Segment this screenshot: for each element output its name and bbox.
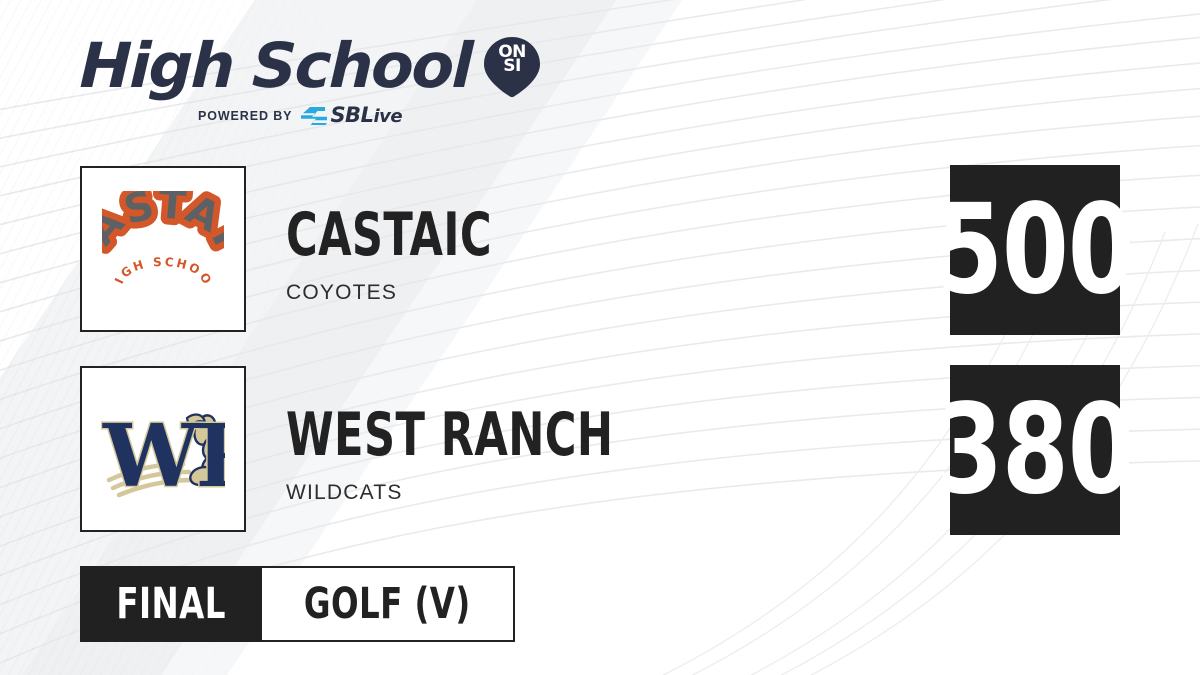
sblive-italic-part: ive: [373, 106, 402, 127]
brand-title: High School: [79, 35, 472, 97]
brand-logo-row: High School ON SI: [80, 34, 543, 98]
svg-text:WR: WR: [102, 406, 225, 504]
brand-logo: High School ON SI POWERED BY SBLive: [80, 34, 543, 126]
pin-label: ON SI: [481, 45, 543, 73]
score-value-west-ranch: 380: [936, 388, 1134, 512]
scoreboard-graphic: High School ON SI POWERED BY SBLive: [0, 0, 1200, 675]
team-logo-box-castaic: CASTAIC CASTAIC HIGH SCHOOL: [80, 166, 246, 332]
team-name-west-ranch: WEST RANCH: [286, 405, 613, 465]
team-name-castaic: CASTAIC: [286, 205, 492, 265]
team-mascot-wildcats: WILDCATS: [286, 481, 403, 505]
sblive-s-mark-icon: [301, 106, 327, 126]
sblive-bold-part: SBL: [330, 103, 373, 127]
powered-by-row: POWERED BY SBLive: [198, 105, 543, 126]
team-logo-box-west-ranch: WR: [80, 366, 246, 532]
score-value-castaic: 500: [936, 188, 1134, 312]
pin-label-si: SI: [481, 59, 543, 73]
team-mascot-coyotes: COYOTES: [286, 281, 397, 305]
on-si-pin-icon: ON SI: [481, 36, 543, 98]
score-box-west-ranch: 380: [950, 365, 1120, 535]
status-badge-final: FINAL: [80, 566, 262, 642]
status-badge-sport: GOLF (V): [262, 566, 514, 642]
svg-text:CASTAIC: CASTAIC: [102, 191, 224, 254]
score-box-castaic: 500: [950, 165, 1120, 335]
status-sport-label: GOLF (V): [304, 579, 471, 629]
sblive-wordmark: SBLive: [330, 105, 402, 126]
castaic-crest-icon: CASTAIC CASTAIC HIGH SCHOOL: [102, 191, 224, 307]
status-final-label: FINAL: [116, 579, 225, 629]
powered-by-label: POWERED BY: [198, 109, 292, 123]
west-ranch-wr-icon: WR: [101, 394, 225, 504]
status-bar: FINAL GOLF (V): [80, 566, 515, 642]
